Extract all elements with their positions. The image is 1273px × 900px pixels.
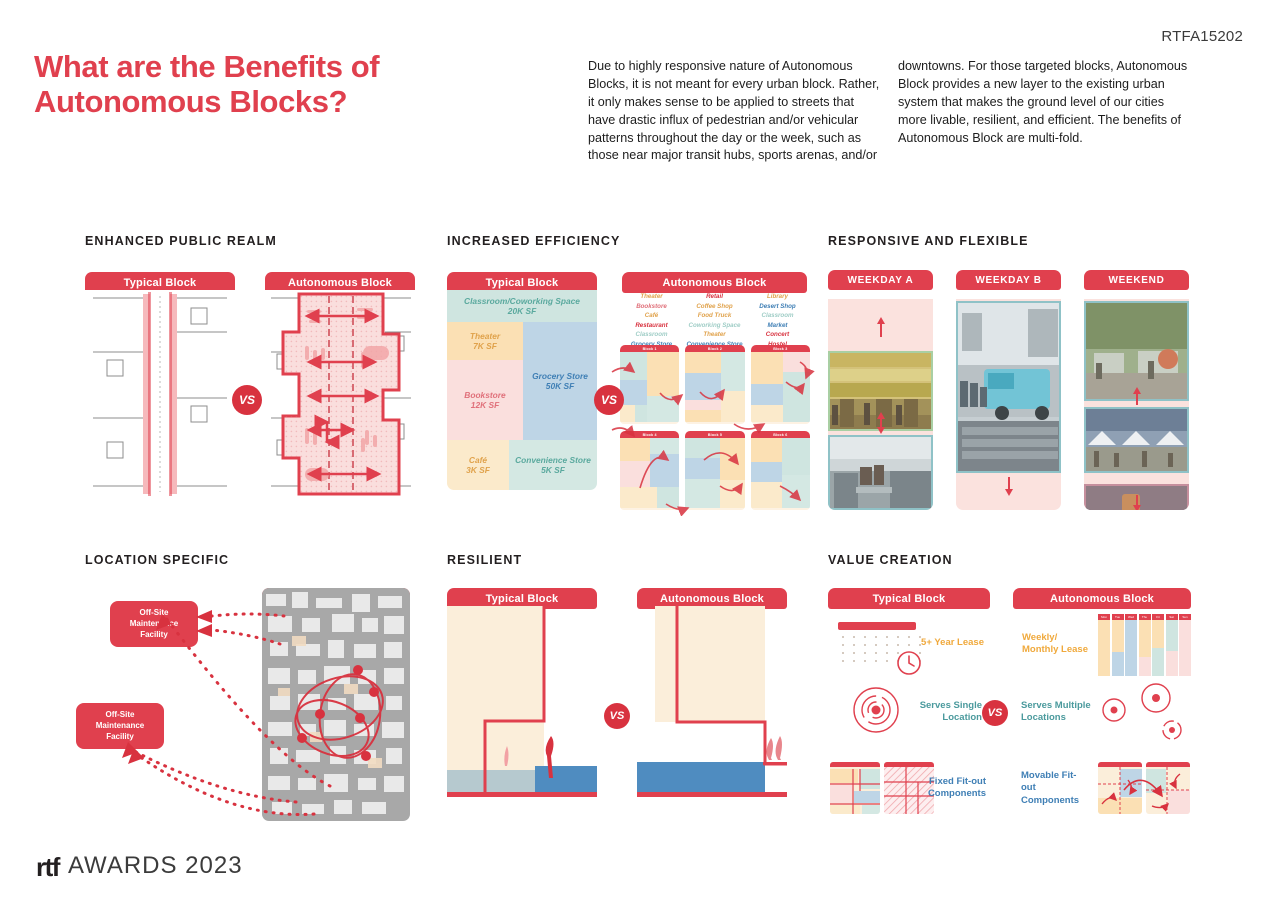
word-item: Concert: [748, 330, 807, 340]
word-item: Coworking Space: [685, 321, 744, 331]
weekday-tile: Sat: [1166, 614, 1178, 676]
word-item: Coffee Shop: [685, 302, 744, 312]
mini-block-label: Block 2: [685, 345, 744, 352]
mini-block-body: [620, 438, 679, 508]
section-diagram-typical-resilient: [447, 606, 597, 800]
mini-block-label: Block 6: [751, 431, 810, 438]
mini-block-body: [685, 352, 744, 422]
weekday-tile: Thu: [1139, 614, 1151, 676]
clock-icon: [896, 650, 922, 676]
photo-outdoor-market: [1084, 301, 1189, 401]
word-item: Desert Shop: [748, 302, 807, 312]
panel-header-typical-block-vc: Typical Block: [828, 588, 990, 609]
mini-block-label: Block 1: [620, 345, 679, 352]
word-item: Market: [748, 321, 807, 331]
fitout-tile-autonomous-2: [1146, 762, 1190, 814]
program-cell-classroom: Classroom/Coworking Space 20K SF: [447, 290, 597, 322]
weekday-tile: Fri: [1152, 614, 1164, 676]
mini-block-tile: Block 5: [685, 431, 744, 510]
multiple-locations-icon: [1098, 682, 1190, 744]
pill-offsite-facility-1: Off-Site Maintenance Facility: [110, 601, 198, 647]
awards-text: AWARDS 2023: [68, 855, 243, 878]
word-item: Café: [622, 311, 681, 321]
mini-block-tile: Block 2: [685, 345, 744, 424]
weekday-b-strip: [956, 299, 1061, 510]
weekday-tile: Wed: [1125, 614, 1137, 676]
rtf-mark: rtf: [36, 857, 59, 878]
section-diagram-autonomous-resilient: [637, 606, 787, 800]
fitout-tile-autonomous-1: [1098, 762, 1142, 814]
section-title-enhanced-public-realm: ENHANCED PUBLIC REALM: [85, 234, 277, 248]
section-title-location-specific: LOCATION SPECIFIC: [85, 553, 229, 567]
mini-block-tile: Block 1: [620, 345, 679, 424]
mini-block-label: Block 3: [751, 345, 810, 352]
vs-badge-res: VS: [604, 703, 630, 729]
mini-block-body: [685, 438, 744, 508]
photo-library-interior: [828, 435, 933, 510]
label-5-year-lease: 5+ Year Lease: [914, 637, 984, 649]
mini-block-tile: Block 4: [620, 431, 679, 510]
pill-offsite-facility-2: Off-Site Maintenance Facility: [76, 703, 164, 749]
word-item: Restaurant: [622, 321, 681, 331]
weekday-tile: Mon: [1098, 614, 1110, 676]
responsive-column-weekend: WEEKEND: [1084, 270, 1189, 510]
autonomous-block-grid: Block 1 Block 2 Block 3 Block: [620, 345, 810, 510]
program-cell-cafe: Café 3K SF: [447, 440, 509, 490]
panel-header-autonomous-block-vc: Autonomous Block: [1013, 588, 1191, 609]
mini-block-tile: Block 6: [751, 431, 810, 510]
label-serves-single-location: Serves Single Location: [908, 700, 982, 725]
page-title: What are the Benefits of Autonomous Bloc…: [34, 50, 514, 119]
program-cell-convenience: Convenience Store 5K SF: [509, 440, 597, 490]
word-item: Classroom: [748, 311, 807, 321]
panel-header-weekday-a: WEEKDAY A: [828, 270, 933, 290]
plan-typical-block-epr: [85, 290, 235, 498]
word-item: Bookstore: [622, 302, 681, 312]
word-item: Food Truck: [685, 311, 744, 321]
mini-block-tile: Block 3: [751, 345, 810, 424]
responsive-column-weekday-b: WEEKDAY B: [956, 270, 1061, 510]
board-code: RTFA15202: [1161, 28, 1243, 45]
section-title-resilient: RESILIENT: [447, 553, 522, 567]
label-weekly-monthly-lease: Weekly/ Monthly Lease: [1022, 632, 1088, 657]
panel-header-autonomous-block-eff: Autonomous Block: [622, 272, 807, 293]
mini-block-body: [620, 352, 679, 422]
weekday-tile-strip: Mon Tue Wed Thu Fri Sat Sun: [1098, 614, 1191, 676]
typical-block-program-diagram: Classroom/Coworking Space 20K SF Theater…: [447, 290, 597, 490]
weekend-strip: [1084, 299, 1189, 510]
mini-block-label: Block 5: [685, 431, 744, 438]
word-item: Library: [748, 292, 807, 302]
city-map-image: [262, 588, 410, 821]
program-cell-bookstore: Bookstore 12K SF: [447, 360, 523, 440]
vs-badge-eff: VS: [594, 385, 624, 415]
program-cell-theater: Theater 7K SF: [447, 322, 523, 360]
section-title-value-creation: VALUE CREATION: [828, 553, 953, 567]
word-item: Theater: [622, 292, 681, 302]
intro-paragraph-1: Due to highly responsive nature of Auton…: [588, 58, 880, 165]
weekday-a-strip: [828, 299, 933, 510]
program-cell-grocery: Grocery Store 50K SF: [523, 322, 597, 440]
intro-paragraph-2: downtowns. For those targeted blocks, Au…: [898, 58, 1190, 147]
vs-badge-epr: VS: [232, 385, 262, 415]
vs-badge-vc: VS: [982, 700, 1008, 726]
label-serves-multiple-locations: Serves Multiple Locations: [1021, 700, 1101, 725]
mini-block-label: Block 4: [620, 431, 679, 438]
label-movable-fitout: Movable Fit-out Components: [1021, 770, 1087, 807]
weekday-tile: Tue: [1112, 614, 1124, 676]
word-item: Classroom: [622, 330, 681, 340]
presentation-board: RTFA15202 What are the Benefits of Auton…: [0, 0, 1273, 900]
section-title-responsive-and-flexible: RESPONSIVE AND FLEXIBLE: [828, 234, 1029, 248]
word-item: Theater: [685, 330, 744, 340]
fitout-tile-typical-1: [830, 762, 880, 814]
calendar-header-bar: [838, 622, 916, 630]
weekday-tile: Sun: [1179, 614, 1191, 676]
responsive-column-weekday-a: WEEKDAY A: [828, 270, 933, 510]
section-title-increased-efficiency: INCREASED EFFICIENCY: [447, 234, 620, 248]
footer-logo: rtf AWARDS 2023: [36, 855, 243, 878]
panel-header-weekday-b: WEEKDAY B: [956, 270, 1061, 290]
mini-block-body: [751, 352, 810, 422]
label-fixed-fitout: Fixed Fit-out Components: [920, 776, 986, 801]
photo-food-truck-street: [956, 301, 1061, 473]
photo-tent-market: [1084, 407, 1189, 473]
word-item: Retail: [685, 292, 744, 302]
single-location-icon: [852, 686, 900, 734]
plan-autonomous-block-epr: [265, 290, 415, 498]
mini-block-body: [751, 438, 810, 508]
panel-header-weekend: WEEKEND: [1084, 270, 1189, 290]
